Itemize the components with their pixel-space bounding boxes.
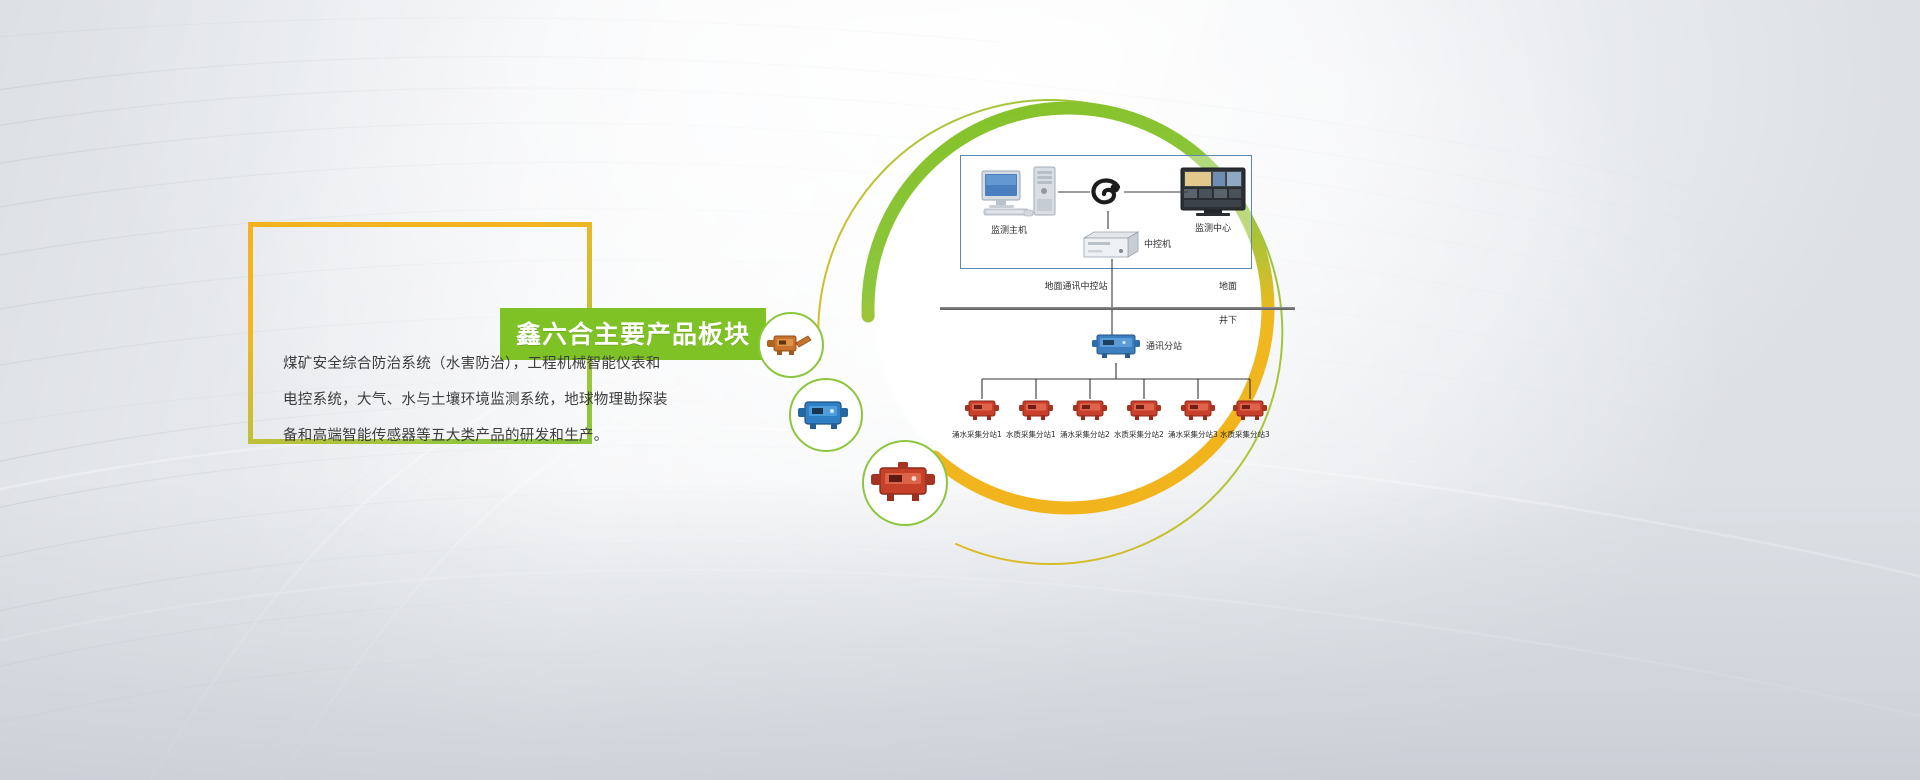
label-monitor-center: 监测中心 bbox=[1183, 221, 1243, 234]
body-line-2: 电控系统，大气、水与土壤环境监测系统，地球物理勘探装 bbox=[283, 382, 713, 418]
body-line-1: 煤矿安全综合防治系统（水害防治），工程机械智能仪表和 bbox=[283, 346, 713, 382]
label-comm-substation: 通讯分站 bbox=[1146, 339, 1182, 352]
ground-underground-divider bbox=[940, 307, 1295, 310]
product-bubble-red-valve[interactable] bbox=[862, 440, 948, 526]
page-title: 鑫六合主要产品板块 bbox=[516, 320, 750, 349]
banner-stage: 鑫六合主要产品板块 煤矿安全综合防治系统（水害防治），工程机械智能仪表和 电控系… bbox=[0, 0, 1920, 780]
node-label-5: 水质采集分站3 bbox=[1220, 429, 1270, 440]
comm-substation-icon bbox=[1092, 331, 1140, 359]
diagram-connection-lines bbox=[940, 155, 1320, 475]
node-label-2: 涌水采集分站2 bbox=[1060, 429, 1110, 440]
panel-body-text: 煤矿安全综合防治系统（水害防治），工程机械智能仪表和 电控系统，大气、水与土壤环… bbox=[283, 346, 713, 454]
node-label-1: 水质采集分站1 bbox=[1006, 429, 1056, 440]
blue-control-box-device-icon bbox=[791, 380, 857, 446]
collection-station-icon bbox=[1019, 397, 1053, 423]
node-label-4: 涌水采集分站3 bbox=[1168, 429, 1218, 440]
label-ground: 地面 bbox=[1208, 279, 1248, 292]
label-ground-comm-station: 地面通讯中控站 bbox=[1016, 279, 1136, 292]
collection-station-icon bbox=[1073, 397, 1107, 423]
system-diagram-hero: 监测主机 中控机 监测中心 地面通讯中控站 地面 井下 通讯分站 bbox=[760, 60, 1380, 580]
label-underground: 井下 bbox=[1208, 313, 1248, 326]
label-monitoring-host: 监测主机 bbox=[980, 223, 1038, 236]
collection-station-icon bbox=[1127, 397, 1161, 423]
orange-sensor-device-icon bbox=[760, 314, 818, 372]
collection-station-icon bbox=[1233, 397, 1267, 423]
network-architecture-diagram: 监测主机 中控机 监测中心 地面通讯中控站 地面 井下 通讯分站 bbox=[940, 155, 1320, 475]
red-valve-device-icon bbox=[864, 442, 942, 520]
product-info-panel: 鑫六合主要产品板块 煤矿安全综合防治系统（水害防治），工程机械智能仪表和 电控系… bbox=[248, 222, 592, 444]
product-bubble-blue-control-box[interactable] bbox=[789, 378, 863, 452]
label-control-machine: 中控机 bbox=[1144, 237, 1171, 250]
body-line-3: 备和高端智能传感器等五大类产品的研发和生产。 bbox=[283, 418, 713, 454]
product-bubble-orange-sensor[interactable] bbox=[758, 312, 824, 378]
collection-station-icon bbox=[1181, 397, 1215, 423]
node-label-0: 涌水采集分站1 bbox=[952, 429, 1002, 440]
node-label-3: 水质采集分站2 bbox=[1114, 429, 1164, 440]
collection-station-icon bbox=[965, 397, 999, 423]
